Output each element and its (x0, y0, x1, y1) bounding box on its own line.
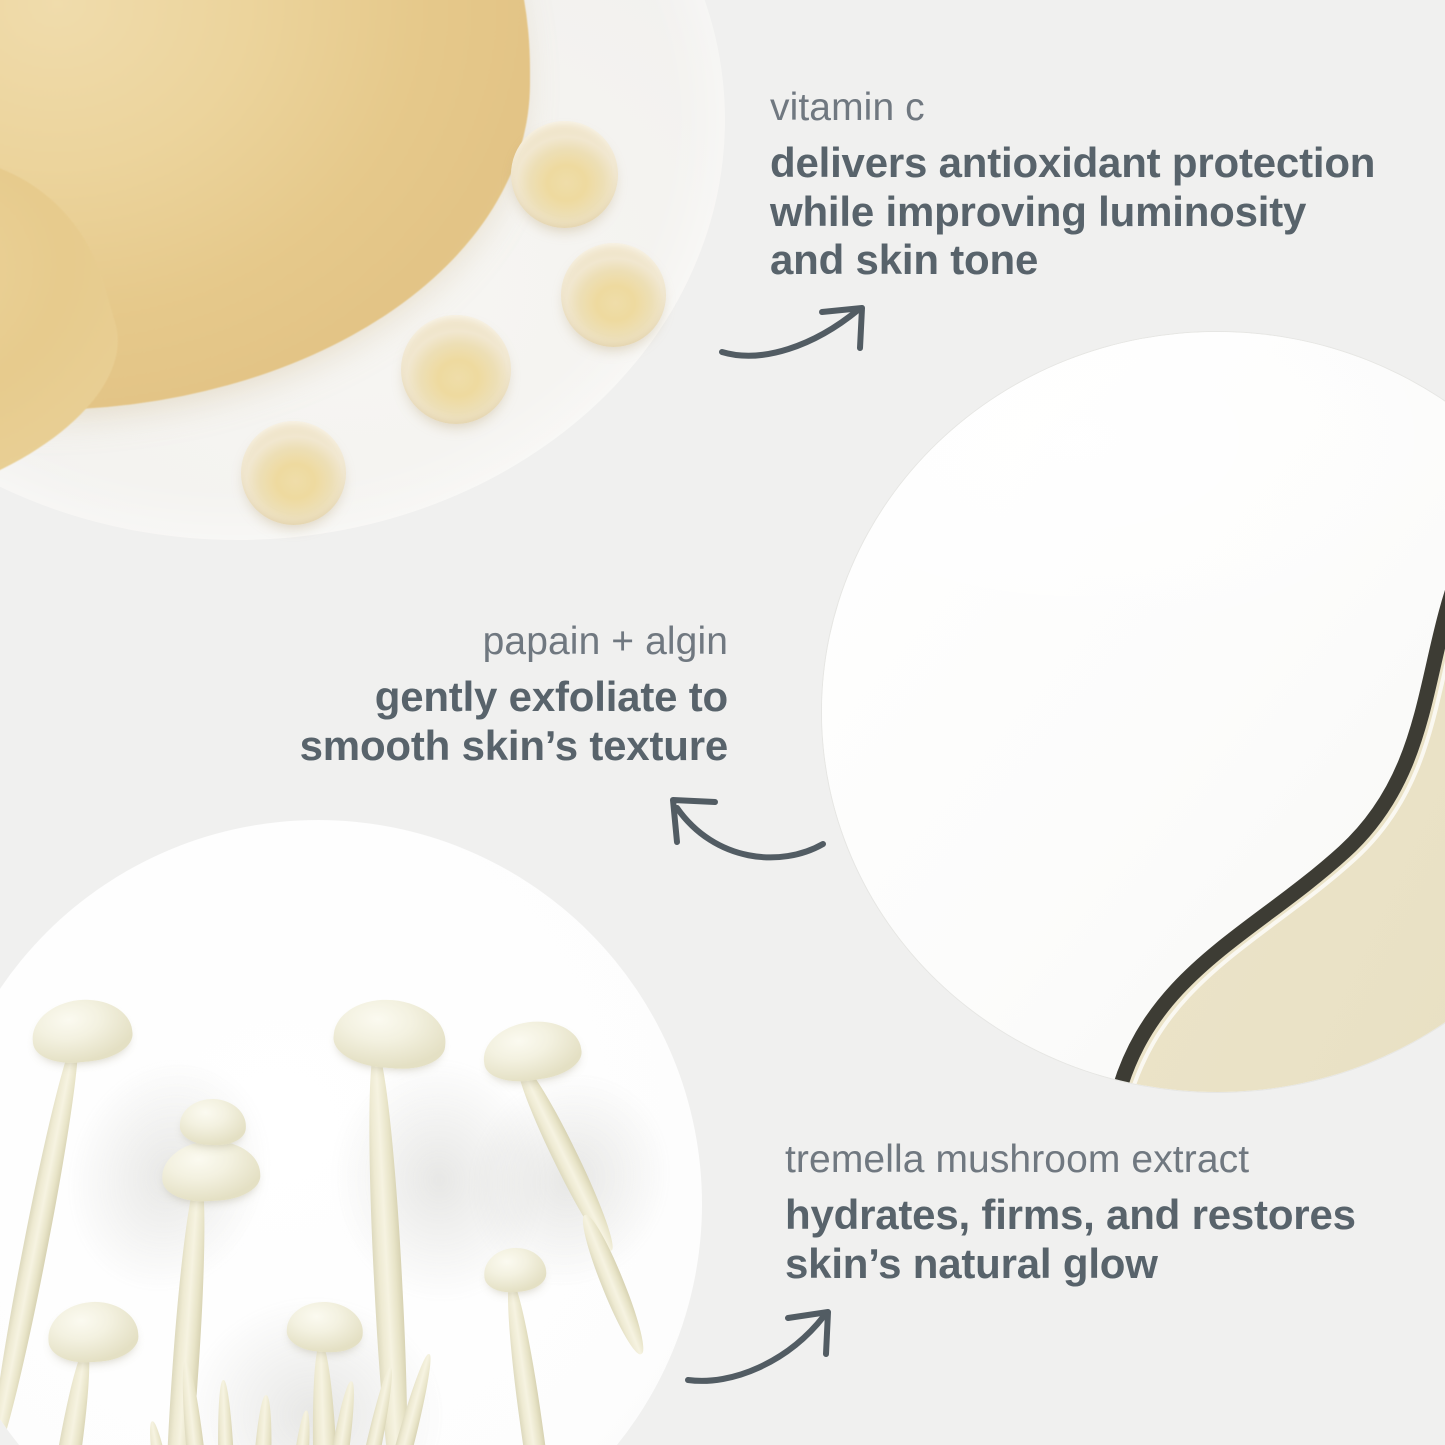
callout-line: delivers antioxidant protection (770, 139, 1375, 186)
serum-droplet-2 (561, 243, 666, 347)
serum-droplet-4 (241, 421, 346, 525)
callout-vitamin-c: vitamin c delivers antioxidant protectio… (770, 88, 1375, 285)
callout-label-tremella: tremella mushroom extract (785, 1140, 1356, 1179)
callout-line: gently exfoliate to (375, 673, 728, 720)
callout-line: skin’s natural glow (785, 1240, 1158, 1287)
infographic-canvas: vitamin c delivers antioxidant protectio… (0, 0, 1445, 1445)
cream-highlight (822, 332, 1445, 712)
arrow-to-serum-swatch (710, 288, 890, 380)
serum-plate-background (0, 0, 725, 540)
cream-ivory-region (822, 332, 1445, 1092)
callout-body-tremella: hydrates, firms, and restores skin’s nat… (785, 1191, 1356, 1288)
callout-body-vitamin-c: delivers antioxidant protection while im… (770, 139, 1375, 285)
cream-white-region (822, 332, 1445, 1092)
callout-label-papain-algin: papain + algin (0, 622, 728, 661)
cream-seam-shadow (822, 332, 1445, 1092)
arrow-to-cream-swirl (655, 782, 835, 874)
arrow-to-mushrooms (678, 1296, 858, 1392)
callout-papain-algin: papain + algin gently exfoliate to smoot… (0, 622, 728, 770)
callout-line: smooth skin’s texture (300, 722, 728, 769)
serum-blob-tail (0, 117, 147, 553)
callout-line: while improving luminosity (770, 188, 1306, 235)
serum-droplet-1 (511, 121, 618, 228)
mushroom-photo-circle (0, 820, 702, 1445)
callout-tremella: tremella mushroom extract hydrates, firm… (785, 1140, 1356, 1288)
serum-droplet-3 (401, 315, 511, 424)
callout-label-vitamin-c: vitamin c (770, 88, 1375, 127)
serum-blob-main (0, 0, 530, 410)
callout-line: and skin tone (770, 236, 1038, 283)
cream-swirl-disc (822, 332, 1445, 1092)
callout-line: hydrates, firms, and restores (785, 1191, 1356, 1238)
callout-body-papain-algin: gently exfoliate to smooth skin’s textur… (0, 673, 728, 770)
